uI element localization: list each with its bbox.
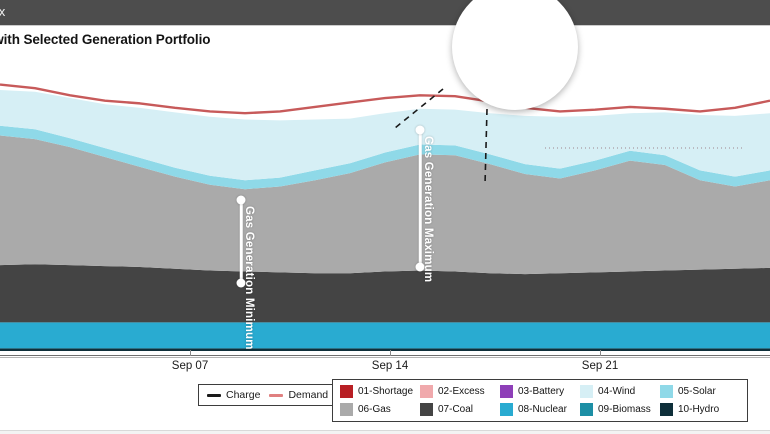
legend-swatch-04-wind	[580, 385, 593, 398]
window-title: on Mix	[0, 4, 6, 19]
legend-swatch-01-shortage	[340, 385, 353, 398]
legend-item-02-excess[interactable]: 02-Excess	[420, 385, 500, 398]
legend-swatch-03-battery	[500, 385, 513, 398]
annotation-label: Gas Generation Minimum	[243, 206, 255, 350]
legend-item-04-wind[interactable]: 04-Wind	[580, 385, 660, 398]
annotation-stem	[419, 130, 422, 267]
legend-item-03-battery[interactable]: 03-Battery	[500, 385, 580, 398]
area-series-10-hydro	[0, 348, 770, 351]
legend-label-05-solar: 05-Solar	[678, 386, 716, 397]
legend-swatch-demand-line	[269, 394, 283, 397]
legend-item-10-hydro[interactable]: 10-Hydro	[660, 403, 740, 416]
window-bottom-edge	[0, 430, 770, 434]
legend-item-05-solar[interactable]: 05-Solar	[660, 385, 740, 398]
legend-item-charge[interactable]: Charge	[207, 389, 260, 401]
x-tick-label-2: Sep 21	[582, 360, 618, 372]
x-axis-line-secondary	[0, 357, 770, 358]
legend-label-03-battery: 03-Battery	[518, 386, 564, 397]
x-tick-label-1: Sep 14	[372, 360, 408, 372]
window-title-bar: on Mix	[0, 0, 770, 26]
page-title: mand with Selected Generation Portfolio	[0, 32, 210, 47]
legend-label-08-nuclear: 08-Nuclear	[518, 404, 567, 415]
x-tick-mark-2	[600, 350, 601, 356]
legend-row-top: 01-Shortage02-Excess03-Battery04-Wind05-…	[340, 385, 740, 398]
legend-label-10-hydro: 10-Hydro	[678, 404, 719, 415]
legend-swatch-05-solar	[660, 385, 673, 398]
legend-swatch-02-excess	[420, 385, 433, 398]
stacked-area-chart	[0, 56, 770, 351]
x-tick-label-0: Sep 07	[172, 360, 208, 372]
annotation-dot-top	[237, 196, 246, 205]
legend-swatch-06-gas	[340, 403, 353, 416]
legend-item-06-gas[interactable]: 06-Gas	[340, 403, 420, 416]
legend-label-demand: Demand	[288, 389, 328, 401]
chart-plot-area	[0, 56, 770, 351]
x-axis-line	[0, 355, 770, 356]
energy-generation-mix-app: Gas Generation Minimum Gas Generation Ma…	[0, 0, 770, 433]
x-tick-mark-0	[190, 350, 191, 356]
legend-label-06-gas: 06-Gas	[358, 404, 391, 415]
legend-swatch-09-biomass	[580, 403, 593, 416]
x-tick-mark-1	[390, 350, 391, 356]
line-legend[interactable]: Charge Demand	[198, 384, 337, 406]
legend-label-charge: Charge	[226, 389, 260, 401]
annotation-label: Gas Generation Maximum	[422, 136, 434, 282]
legend-label-07-coal: 07-Coal	[438, 404, 473, 415]
legend-item-demand[interactable]: Demand	[269, 389, 328, 401]
area-series-07-coal	[0, 264, 770, 322]
annotation-dot-top	[416, 126, 425, 135]
legend-item-01-shortage[interactable]: 01-Shortage	[340, 385, 420, 398]
legend-label-04-wind: 04-Wind	[598, 386, 635, 397]
annotation-gas-generation-minimum[interactable]: Gas Generation Minimum	[232, 200, 250, 283]
area-series-08-nuclear	[0, 322, 770, 348]
legend-item-07-coal[interactable]: 07-Coal	[420, 403, 500, 416]
area-legend[interactable]: 01-Shortage02-Excess03-Battery04-Wind05-…	[332, 379, 748, 422]
legend-swatch-charge-line	[207, 394, 221, 397]
annotation-stem	[240, 200, 243, 283]
legend-label-02-excess: 02-Excess	[438, 386, 485, 397]
legend-swatch-08-nuclear	[500, 403, 513, 416]
legend-item-08-nuclear[interactable]: 08-Nuclear	[500, 403, 580, 416]
legend-swatch-07-coal	[420, 403, 433, 416]
legend-item-09-biomass[interactable]: 09-Biomass	[580, 403, 660, 416]
legend-swatch-10-hydro	[660, 403, 673, 416]
legend-label-09-biomass: 09-Biomass	[598, 404, 651, 415]
legend-row-bottom: 06-Gas07-Coal08-Nuclear09-Biomass10-Hydr…	[340, 403, 740, 416]
annotation-gas-generation-maximum[interactable]: Gas Generation Maximum	[411, 130, 429, 267]
legend-label-01-shortage: 01-Shortage	[358, 386, 413, 397]
